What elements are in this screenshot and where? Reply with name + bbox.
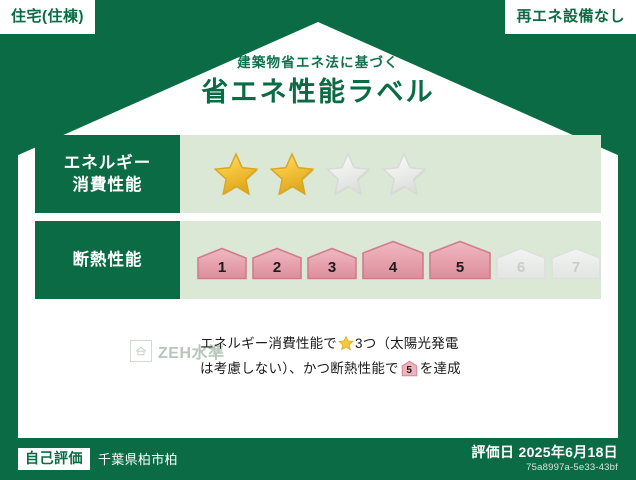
title-block: 建築物省エネ法に基づく 省エネ性能ラベル [0,56,636,106]
title-subtitle: 建築物省エネ法に基づく [0,56,636,70]
insulation-grade-badge-value: 7 [550,260,602,275]
footer-bar: 自己評価 千葉県柏市柏 評価日 2025年6月18日 75a8997a-5e33… [0,438,636,480]
energy-label-root: 住宅(住棟) 再エネ設備なし 建築物省エネ法に基づく 省エネ性能ラベル エネルギ… [0,0,636,480]
insulation-grade-badge-value: 5 [428,260,492,275]
achievement-description: エネルギー消費性能で3つ（太陽光発電 は考慮しない）、かつ断熱性能で5を達成 [200,330,601,381]
evaluation-date: 評価日 2025年6月18日 [471,444,618,460]
description-line2-before-badge: は考慮しない）、かつ断熱性能で [200,361,399,376]
star-icon-filled [213,151,259,197]
row-energy-consumption-label: エネルギー 消費性能 [35,135,180,213]
insulation-grade-scale: 1234567 [180,240,602,280]
page-title: 省エネ性能ラベル [0,79,636,106]
corner-tag-renewable-energy-label: 再エネ設備なし [516,8,625,25]
description-line2-after-badge: を達成 [420,361,461,376]
description-line1-after-star: 3つ（太陽光発電 [355,336,459,351]
insulation-grade-badge: 2 [251,247,303,280]
insulation-grade-badge-value: 3 [306,260,358,275]
self-evaluation-badge: 自己評価 [18,448,90,469]
row-insulation-body: 1234567 [180,221,602,299]
evaluation-date-label: 評価日 [471,444,514,460]
star-rating [180,151,427,197]
row-energy-consumption: エネルギー 消費性能 [35,135,601,213]
row-insulation-label-line1: 断熱性能 [73,249,143,271]
corner-tag-building-type: 住宅(住棟) [0,0,95,34]
row-insulation: 断熱性能 1234567 [35,221,601,299]
row-energy-consumption-body [180,135,601,213]
zeh-indicator: ZEH水準 [35,330,200,363]
star-icon-filled [269,151,315,197]
inline-insulation-badge-value: 5 [401,366,418,376]
row-energy-consumption-label-line1: エネルギー [64,152,152,174]
star-icon-empty [325,151,371,197]
insulation-grade-badge-value: 2 [251,260,303,275]
inline-star-icon [338,335,354,351]
insulation-grade-badge: 6 [495,247,547,280]
property-address: 千葉県柏市柏 [98,449,178,468]
footer-right: 評価日 2025年6月18日 75a8997a-5e33-43bf [471,444,636,474]
evaluation-date-value: 2025年6月18日 [518,444,618,460]
insulation-grade-badge: 3 [306,247,358,280]
insulation-grade-badge: 5 [428,240,492,280]
insulation-grade-badge-value: 1 [196,260,248,275]
row-energy-consumption-label-line2: 消費性能 [73,174,143,196]
insulation-grade-badge: 7 [550,247,602,280]
star-icon-empty [381,151,427,197]
description-line1-before-star: エネルギー消費性能で [200,336,337,351]
evaluation-id: 75a8997a-5e33-43bf [471,463,618,474]
row-insulation-label: 断熱性能 [35,221,180,299]
insulation-grade-badge-value: 4 [361,260,425,275]
inline-insulation-badge: 5 [401,360,418,377]
insulation-grade-badge: 4 [361,240,425,280]
insulation-grade-badge: 1 [196,247,248,280]
footer-left: 自己評価 千葉県柏市柏 [0,448,178,469]
zeh-house-icon [130,340,152,362]
corner-tag-renewable-energy: 再エネ設備なし [505,0,636,34]
metric-rows: エネルギー 消費性能 断熱性能 1234567 [35,135,601,307]
insulation-grade-badge-value: 6 [495,260,547,275]
corner-tag-building-type-label: 住宅(住棟) [11,8,84,25]
zeh-and-description: ZEH水準 エネルギー消費性能で3つ（太陽光発電 は考慮しない）、かつ断熱性能で… [35,330,601,381]
